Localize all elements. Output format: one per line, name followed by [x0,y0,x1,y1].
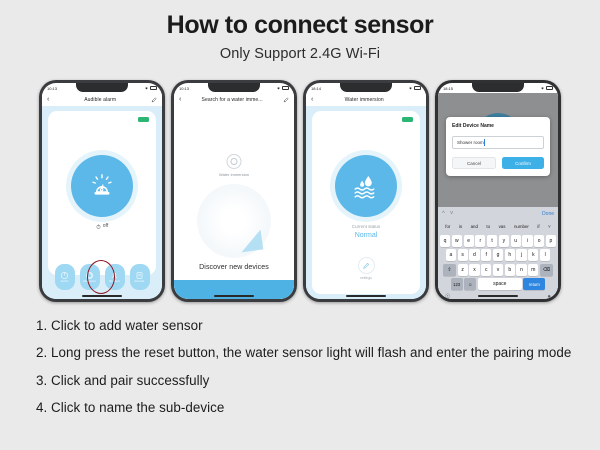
instruction-step-1: 1. Click to add water sensor [36,318,580,334]
bottom-button-label: Records [135,281,145,284]
keyboard-suggestions: for is and to vas number if ˅ [438,220,558,232]
wifi-icon [144,86,149,90]
phone-3-title: Water immersion [313,97,415,103]
suggestion-item[interactable]: number [514,224,529,229]
phone-4-content: Normal Edit Device Name Shower room Canc… [438,93,558,299]
key-g[interactable]: g [493,249,503,261]
chevron-down-icon[interactable]: ˅ [548,224,551,229]
water-glyph [349,169,383,203]
discovered-device-label: Water immersion [174,172,294,177]
phone-4-edit-device-name: 18:15 Normal Edit Device Name Shower [435,80,561,302]
ios-keyboard: ^ ˅ Done for is and to vas number [438,207,558,299]
key-q[interactable]: q [440,235,450,247]
dialog-title: Edit Device Name [452,123,544,129]
wifi-icon [408,86,413,90]
status-icons [144,86,157,90]
wifi-icon [276,86,281,90]
key-d[interactable]: d [469,249,479,261]
device-name-input[interactable]: Shower room [452,136,544,149]
battery-icon [150,86,157,90]
globe-icon[interactable]: ☉ [445,293,450,299]
key-i[interactable]: i [522,235,532,247]
instruction-list: 1. Click to add water sensor 2. Long pre… [36,318,580,427]
phone-1-title: Audible alarm [49,97,151,103]
battery-icon [546,86,553,90]
key-h[interactable]: h [505,249,515,261]
phone-3-content: Current status Normal settings [306,106,426,299]
phone-1-content: off Switch [42,106,162,299]
key-o[interactable]: o [534,235,544,247]
key-n[interactable]: n [516,264,526,276]
phone-notch [472,83,524,92]
status-time: 10:13 [47,86,57,91]
phone-3-navbar: ‹ Water immersion [306,93,426,106]
bottom-button-add-device[interactable]: Add device [80,264,100,290]
key-r[interactable]: r [475,235,485,247]
wifi-icon [540,86,545,90]
pencil-glyph [362,262,370,270]
phone-1-navbar: ‹ Audible alarm [42,93,162,106]
dialog-buttons: Cancel Confirm [452,157,544,169]
instruction-step-2: 2. Long press the reset button, the wate… [36,345,580,361]
phone-2-title: Search for a water imme... [181,97,283,103]
keyboard-nav-arrows: ^ ˅ [442,211,453,217]
siren-alarm-icon[interactable] [71,155,133,217]
radar-sweep-beam [239,230,264,253]
return-key[interactable]: return [523,278,545,290]
chevron-down-icon[interactable]: ˅ [450,211,454,217]
home-indicator [346,295,386,297]
phone-4-screen: 18:15 Normal Edit Device Name Shower [438,83,558,299]
key-z[interactable]: z [458,264,468,276]
device-name-value: Shower room [457,140,484,145]
edit-device-name-dialog: Edit Device Name Shower room Cancel Conf… [446,117,550,176]
add-device-icon [85,271,94,280]
suggestion-item[interactable]: if [537,224,539,229]
key-m[interactable]: m [528,264,538,276]
power-switch-icon [60,271,69,280]
phone-3-screen: 18:14 ‹ Water immersion [306,83,426,299]
key-e[interactable]: e [464,235,474,247]
status-icons [408,86,421,90]
phone-1-audible-alarm: 10:13 ‹ Audible alarm [39,80,165,302]
phone-notch [208,83,260,92]
page-root: How to connect sensor Only Support 2.4G … [0,0,600,450]
instruction-step-4: 4. Click to name the sub-device [36,400,580,416]
emoji-icon[interactable]: ☺ [464,278,476,290]
key-x[interactable]: x [469,264,479,276]
key-s[interactable]: s [458,249,468,261]
phone-notch [340,83,392,92]
status-icons [276,86,289,90]
log-record-icon [135,271,144,280]
keyboard-row-4: 123 ☺ space return [438,278,558,290]
phone-2-discover-devices: 10:13 ‹ Search for a water imme... [171,80,297,302]
pencil-icon[interactable] [151,97,157,103]
status-icons [540,86,553,90]
shift-icon[interactable]: ⇧ [443,264,456,276]
phone-2-navbar: ‹ Search for a water imme... [174,93,294,106]
phone-1-screen: 10:13 ‹ Audible alarm [42,83,162,299]
suggestion-item[interactable]: for [445,224,450,229]
power-icon [96,224,101,229]
siren-glyph [87,171,117,201]
space-key[interactable]: space [478,278,522,290]
wifi-signal-badge [138,117,149,122]
suggestion-item[interactable]: is [459,224,462,229]
battery-icon [414,86,421,90]
key-w[interactable]: w [452,235,462,247]
key-t[interactable]: t [487,235,497,247]
key-j[interactable]: j [516,249,526,261]
battery-icon [282,86,289,90]
device-card: Current status Normal settings [312,111,420,294]
keyboard-toolbar: ^ ˅ Done [438,208,558,220]
keyboard-row-1: q w e r t y u i o p [438,235,558,247]
keyboard-row-3: ⇧ z x c v b n m ⌫ [438,264,558,276]
text-caret [484,139,485,146]
device-card: off [48,111,156,275]
suggestion-item[interactable]: to [486,224,490,229]
navbar-spacer [415,97,421,103]
bottom-button-records[interactable]: Records [130,264,150,290]
phone-1-action-buttons: Switch Add device [42,264,162,290]
phone-screenshot-row: 10:13 ‹ Audible alarm [0,80,600,308]
wifi-signal-badge [402,117,413,122]
sensor-device-inner [231,158,238,165]
keyboard-row-2: a s d f g h j k l [438,249,558,261]
status-value: Normal [312,232,420,239]
bottom-button-label: Add device [83,281,96,284]
device-state-text: off [103,223,108,229]
settings-label: settings [312,276,420,280]
page-header: How to connect sensor Only Support 2.4G … [0,0,600,62]
suggestion-item[interactable]: and [471,224,478,229]
keyboard-done-button[interactable]: Done [542,211,554,217]
phone-notch [76,83,128,92]
phone-2-screen: 10:13 ‹ Search for a water imme... [174,83,294,299]
device-state-label: off [48,223,156,229]
key-a[interactable]: a [446,249,456,261]
settings-block[interactable]: settings [312,257,420,280]
suggestion-item[interactable]: vas [499,224,506,229]
key-u[interactable]: u [511,235,521,247]
key-l[interactable]: l [540,249,550,261]
key-b[interactable]: b [505,264,515,276]
settings-pencil-icon[interactable] [358,257,375,274]
numbers-key[interactable]: 123 [451,278,463,290]
status-time: 10:13 [179,86,189,91]
discover-new-devices-text: Discover new devices [174,264,294,271]
sensor-device-icon [227,154,242,169]
phone-3-water-immersion: 18:14 ‹ Water immersion [303,80,429,302]
radar-sweep-icon [197,184,271,258]
backspace-icon[interactable]: ⌫ [540,264,553,276]
key-y[interactable]: y [499,235,509,247]
chevron-up-icon[interactable]: ^ [442,211,445,217]
bottom-button-label: Switch [61,281,69,284]
water-drop-waves-icon [335,155,397,217]
confirm-button[interactable]: Confirm [502,157,544,169]
user-manage-icon [110,271,119,280]
bottom-button-switch[interactable]: Switch [55,264,75,290]
phone-2-content: Water immersion Discover new devices [174,106,294,299]
key-k[interactable]: k [528,249,538,261]
key-f[interactable]: f [481,249,491,261]
cancel-button[interactable]: Cancel [452,157,496,169]
page-subtitle: Only Support 2.4G Wi-Fi [0,46,600,62]
pencil-icon[interactable] [283,97,289,103]
key-p[interactable]: p [546,235,556,247]
home-indicator [478,295,518,297]
home-indicator [82,295,122,297]
page-title: How to connect sensor [0,12,600,40]
microphone-icon[interactable]: ● [547,294,551,299]
key-v[interactable]: v [493,264,503,276]
status-time: 18:14 [311,86,321,91]
status-time: 18:15 [443,86,453,91]
key-c[interactable]: c [481,264,491,276]
instruction-step-3: 3. Click and pair successfully [36,373,580,389]
home-indicator [214,295,254,297]
status-caption: Current status [312,224,420,229]
bottom-button-label: Members [109,281,120,284]
bottom-button-members[interactable]: Members [105,264,125,290]
